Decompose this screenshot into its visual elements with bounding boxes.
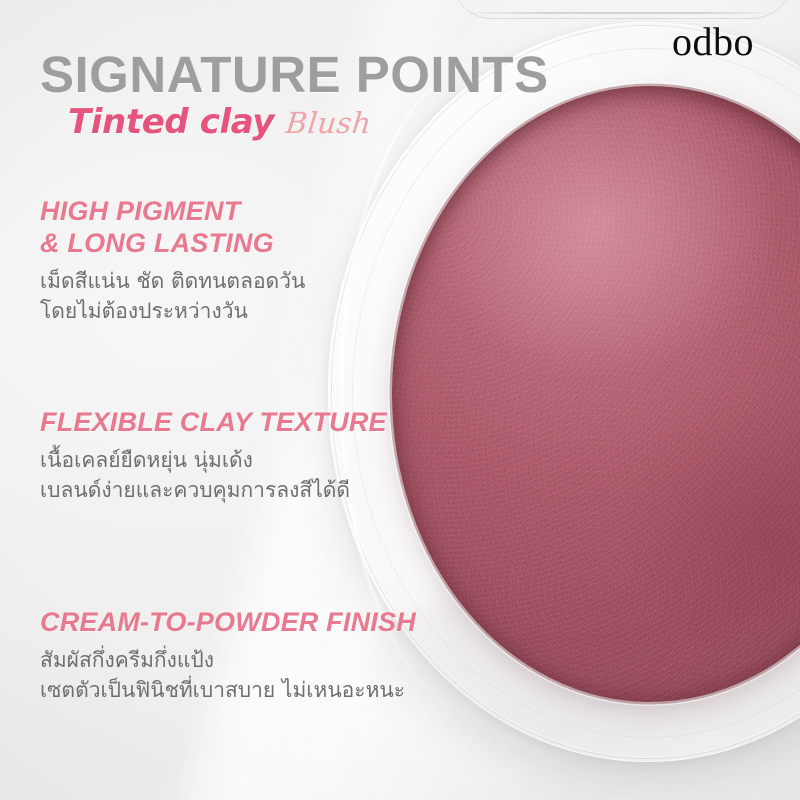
headline-block: SIGNATURE POINTS Tinted clay Blush — [40, 48, 600, 141]
feature-heading: CREAM-TO-POWDER FINISH — [40, 607, 416, 639]
feature-description: เม็ดสีแน่น ชัด ติดทนตลอดวัน โดยไม่ต้องปร… — [40, 267, 305, 327]
feature-item-flexible-clay-texture: FLEXIBLE CLAY TEXTURE เนื้อเคลย์ยืดหยุ่น… — [40, 407, 387, 505]
feature-item-high-pigment: HIGH PIGMENT & LONG LASTING เม็ดสีแน่น ช… — [40, 196, 305, 326]
product-feature-poster: odbo SIGNATURE POINTS Tinted clay Blush … — [0, 0, 800, 800]
feature-heading: FLEXIBLE CLAY TEXTURE — [40, 407, 387, 439]
subtitle-row: Tinted clay Blush — [40, 105, 600, 141]
feature-item-cream-to-powder-finish: CREAM-TO-POWDER FINISH สัมผัสกึ่งครีมกึ่… — [40, 607, 416, 705]
product-category-script: Blush — [284, 109, 372, 138]
product-name-subtitle: Tinted clay — [68, 105, 274, 141]
page-title: SIGNATURE POINTS — [40, 48, 600, 101]
feature-description: เนื้อเคลย์ยืดหยุ่น นุ่มเด้ง เบลนด์ง่ายแล… — [40, 446, 387, 506]
brand-logo: odbo — [672, 22, 754, 62]
feature-description: สัมผัสกึ่งครีมกึ่งแป้ง เซตตัวเป็นฟินิชที… — [40, 646, 416, 706]
feature-heading: HIGH PIGMENT & LONG LASTING — [40, 196, 305, 260]
